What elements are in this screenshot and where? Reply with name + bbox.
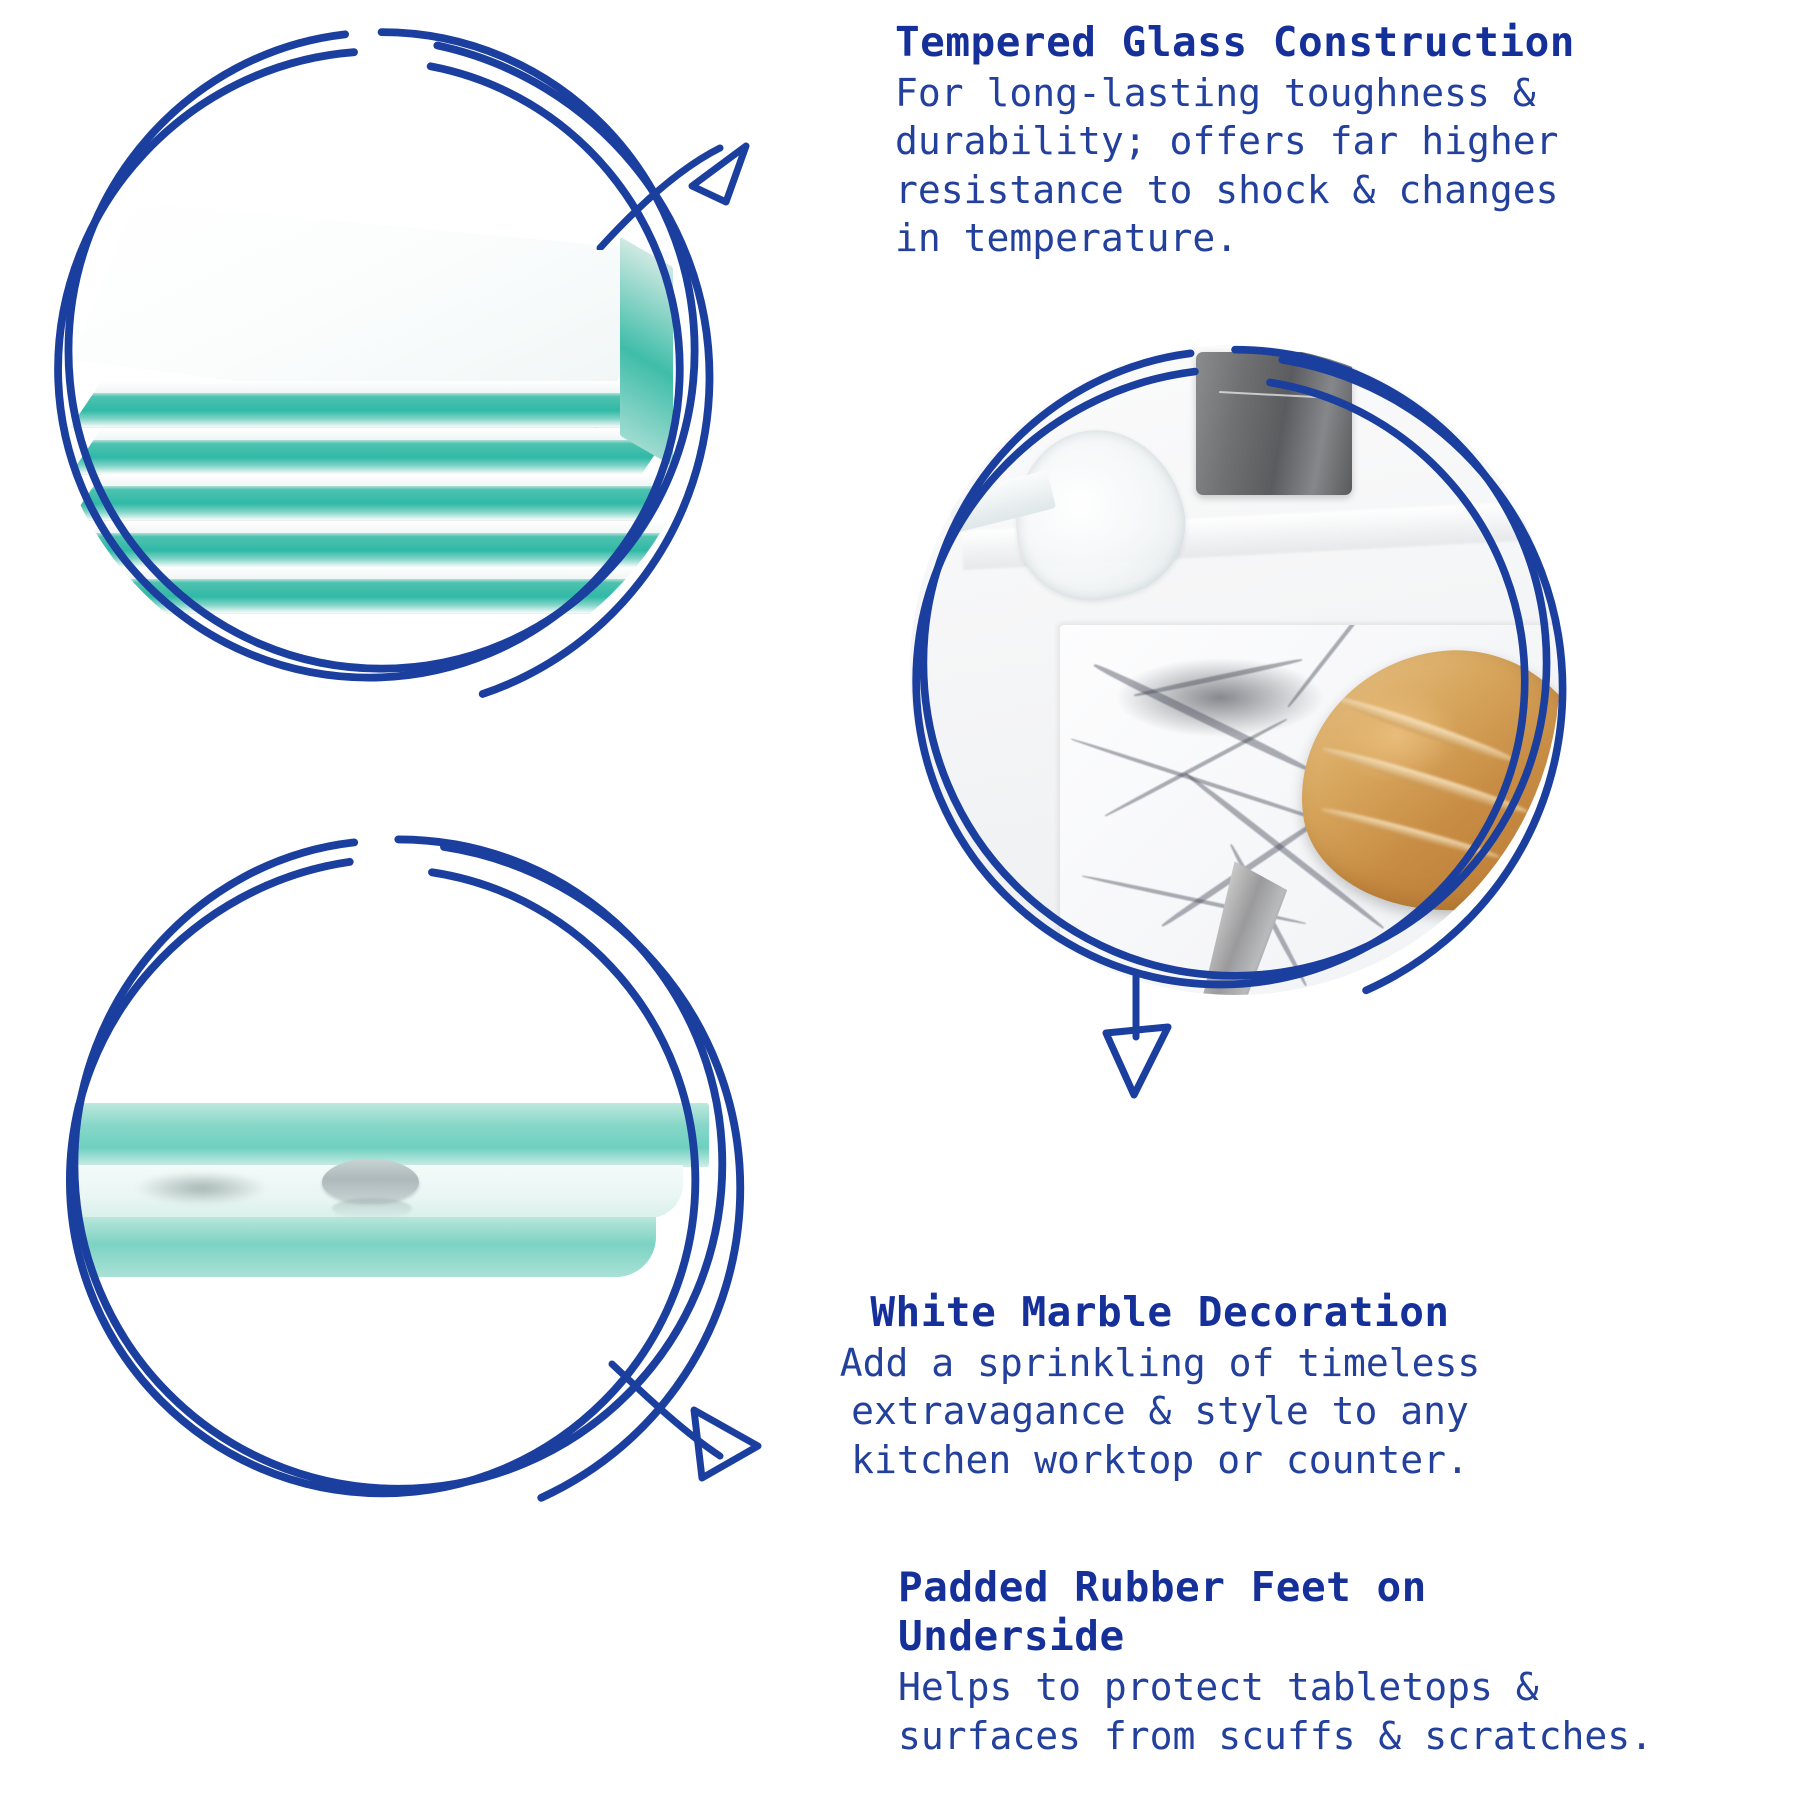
glass-edge-highlight bbox=[620, 236, 673, 466]
glass-sheet bbox=[70, 428, 672, 474]
glass-board-top-edge bbox=[68, 1103, 709, 1166]
feature-description: Helps to protect tabletops & surfaces fr… bbox=[898, 1663, 1800, 1760]
feature-image-white-marble bbox=[910, 345, 1560, 995]
feature-title: Padded Rubber Feet on Underside bbox=[898, 1563, 1800, 1661]
rubber-foot bbox=[322, 1159, 419, 1202]
bottle-label bbox=[1217, 391, 1335, 442]
feature-text-tempered-glass: Tempered Glass Construction For long-las… bbox=[895, 18, 1775, 262]
feature-description: Add a sprinkling of timeless extravaganc… bbox=[790, 1339, 1530, 1484]
feature-title: Tempered Glass Construction bbox=[895, 18, 1775, 67]
arrow-down-right-icon bbox=[608, 1358, 808, 1508]
glass-sheet bbox=[70, 521, 672, 567]
foot-shadow bbox=[135, 1171, 269, 1204]
feature-text-rubber-feet: Padded Rubber Feet on Underside Helps to… bbox=[898, 1563, 1800, 1760]
feature-text-white-marble: White Marble Decoration Add a sprinkling… bbox=[790, 1288, 1530, 1484]
wine-bottle bbox=[1196, 352, 1352, 495]
glass-sheet bbox=[70, 381, 672, 427]
product-feature-infographic: Tempered Glass Construction For long-las… bbox=[0, 0, 1800, 1800]
arrow-down-icon bbox=[1090, 975, 1240, 1100]
marble-chopping-board-with-bread-photo bbox=[910, 345, 1560, 995]
feature-description: For long-lasting toughness & durability;… bbox=[895, 69, 1775, 262]
feature-title: White Marble Decoration bbox=[790, 1288, 1530, 1337]
kitchen-scene-illustration bbox=[910, 345, 1560, 995]
glass-board-bottom-edge bbox=[68, 1217, 656, 1277]
glass-sheet bbox=[70, 567, 672, 613]
glass-sheet bbox=[70, 474, 672, 520]
arrow-up-right-icon bbox=[596, 100, 786, 250]
